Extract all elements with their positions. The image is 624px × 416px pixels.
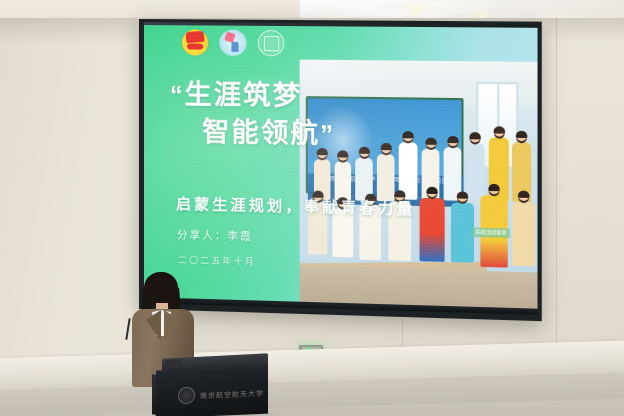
slide-date: 二〇二五年十月 xyxy=(178,253,256,268)
slide-subtitle: 启蒙生涯规划，奉献青春力量 xyxy=(176,193,415,219)
communist-youth-league-emblem-icon xyxy=(182,29,208,55)
slide-presenter: 分享人：李霞 xyxy=(177,227,253,244)
close-quote: ” xyxy=(320,121,335,150)
title-text-2: 智能领航 xyxy=(202,117,320,149)
podium: 南京航空航天大学 xyxy=(152,356,270,416)
slide-title-block: “生涯筑梦 智能领航” xyxy=(166,78,385,152)
podium-microphone xyxy=(164,359,182,367)
slide-logo-row xyxy=(182,29,284,56)
slide-title-line-1: “生涯筑梦 xyxy=(166,78,385,114)
photo-person xyxy=(335,161,351,200)
photo-person xyxy=(377,154,395,201)
hair-top xyxy=(144,272,178,306)
screen-bezel-top xyxy=(144,22,538,28)
lecture-hall-scene: 南京航空航天大学 2024年暑期社会实践团 xyxy=(0,0,624,416)
photo-person xyxy=(466,143,485,201)
university-seal-emblem-icon xyxy=(258,30,284,57)
photo-person xyxy=(420,198,445,262)
photo-tag: 实践活动留念 xyxy=(472,228,510,238)
slide-title-line-2: 智能领航” xyxy=(166,115,385,152)
presentation-slide[interactable]: 南京航空航天大学 2024年暑期社会实践团 xyxy=(144,22,538,315)
wall-seam-2 xyxy=(556,18,557,388)
title-text-1: 生涯筑梦 xyxy=(185,80,303,112)
open-quote: “ xyxy=(170,81,185,109)
downlight-1 xyxy=(410,7,421,14)
young-pioneers-emblem-icon xyxy=(219,30,246,56)
glasses xyxy=(150,291,173,296)
photo-person xyxy=(451,203,474,263)
photo-person xyxy=(512,202,535,266)
